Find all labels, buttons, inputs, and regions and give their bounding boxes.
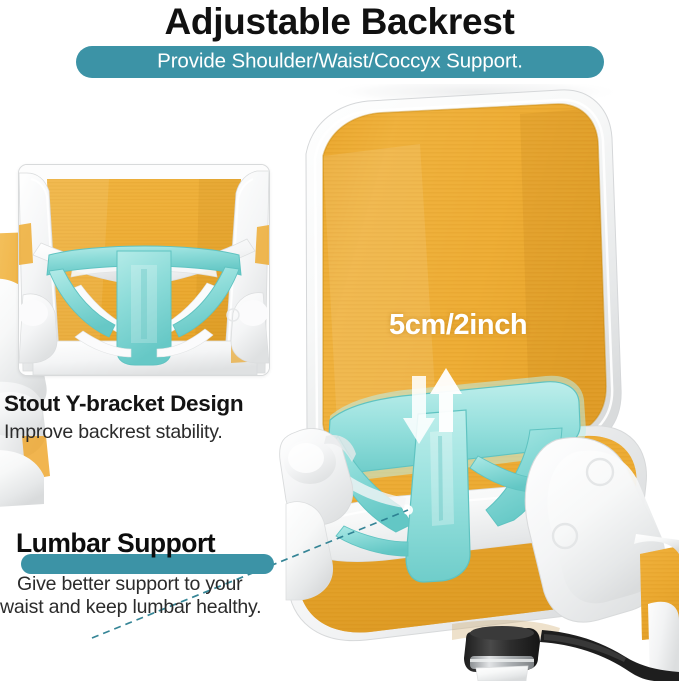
callout-heading-y-bracket: Stout Y-bracket Design	[4, 391, 243, 417]
callout-subtext-lumbar-line2: waist and keep lumbar healthy.	[0, 596, 261, 619]
callout-subtext-y-bracket: Improve backrest stability.	[4, 421, 223, 444]
callout-subtext-lumbar-line1: Give better support to your	[17, 573, 242, 596]
dimension-label: 5cm/2inch	[389, 309, 527, 342]
subtitle-text: Provide Shoulder/Waist/Coccyx Support.	[157, 50, 523, 74]
product-feature-image: Adjustable Backrest Provide Shoulder/Wai…	[0, 0, 679, 681]
y-bracket-closeup-panel	[18, 164, 270, 376]
subtitle-pill: Provide Shoulder/Waist/Coccyx Support.	[76, 46, 604, 78]
callout-heading-lumbar: Lumbar Support	[14, 528, 215, 559]
chair-right-armrest	[525, 438, 679, 681]
page-title: Adjustable Backrest	[0, 2, 679, 42]
callout-lumbar-support: Lumbar Support	[14, 528, 215, 559]
